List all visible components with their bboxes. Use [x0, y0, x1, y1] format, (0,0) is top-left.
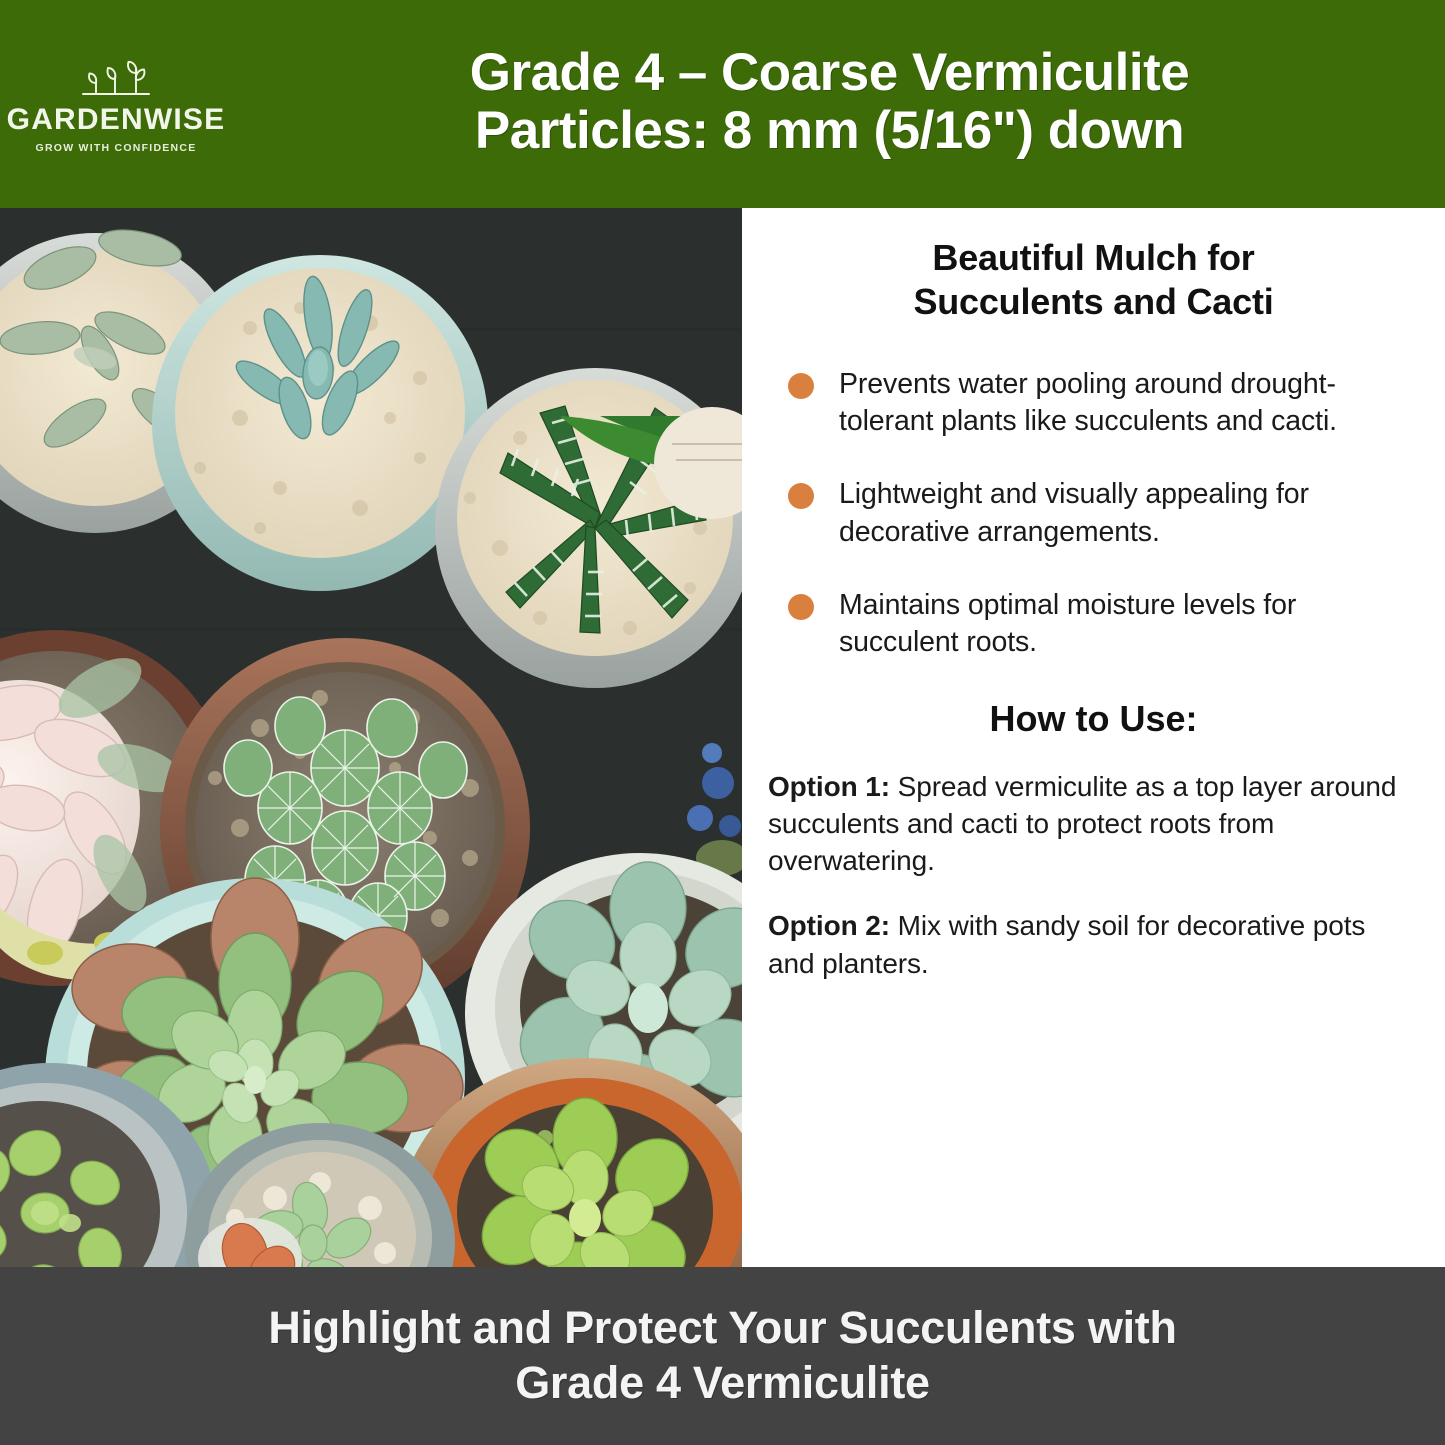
succulent-arrangement-illustration: [0, 208, 742, 1267]
how-to-use-title: How to Use:: [742, 698, 1445, 740]
panel-heading: Beautiful Mulch for Succulents and Cacti: [742, 208, 1445, 324]
usage-option-1: Option 1: Spread vermiculite as a top la…: [742, 768, 1445, 880]
bullet-dot-icon: [788, 373, 814, 399]
benefit-text: Lightweight and visually appealing for d…: [839, 476, 1411, 551]
usage-option-2: Option 2: Mix with sandy soil for decora…: [742, 907, 1445, 981]
header-title-group: Grade 4 – Coarse Vermiculite Particles: …: [232, 44, 1445, 165]
sprout-icon: [70, 58, 162, 104]
list-item: Prevents water pooling around drought-to…: [788, 366, 1411, 441]
infographic-page: GARDENWISE GROW WITH CONFIDENCE Grade 4 …: [0, 0, 1445, 1445]
content-panel: Beautiful Mulch for Succulents and Cacti…: [742, 208, 1445, 1267]
panel-heading-line-1: Beautiful Mulch for: [932, 237, 1254, 278]
brand-tagline: GROW WITH CONFIDENCE: [36, 142, 197, 154]
footer-line-1: Highlight and Protect Your Succulents wi…: [268, 1301, 1176, 1356]
footer-text-group: Highlight and Protect Your Succulents wi…: [268, 1301, 1176, 1411]
footer-line-2: Grade 4 Vermiculite: [268, 1356, 1176, 1411]
bullet-dot-icon: [788, 594, 814, 620]
benefit-text: Maintains optimal moisture levels for su…: [839, 587, 1411, 662]
brand-logo: GARDENWISE GROW WITH CONFIDENCE: [0, 54, 232, 154]
header-title-line-2: Particles: 8 mm (5/16") down: [475, 102, 1184, 160]
panel-heading-line-2: Succulents and Cacti: [913, 281, 1273, 322]
brand-name: GARDENWISE: [7, 105, 226, 135]
benefit-text: Prevents water pooling around drought-to…: [839, 366, 1411, 441]
option-1-label: Option 1:: [768, 771, 890, 802]
list-item: Lightweight and visually appealing for d…: [788, 476, 1411, 551]
header-banner: GARDENWISE GROW WITH CONFIDENCE Grade 4 …: [0, 0, 1445, 208]
product-photo: [0, 208, 742, 1267]
list-item: Maintains optimal moisture levels for su…: [788, 587, 1411, 662]
footer-banner: Highlight and Protect Your Succulents wi…: [0, 1267, 1445, 1445]
benefits-list: Prevents water pooling around drought-to…: [742, 366, 1445, 662]
option-2-label: Option 2:: [768, 910, 890, 941]
bullet-dot-icon: [788, 483, 814, 509]
header-title-line-1: Grade 4 – Coarse Vermiculite: [470, 44, 1190, 102]
